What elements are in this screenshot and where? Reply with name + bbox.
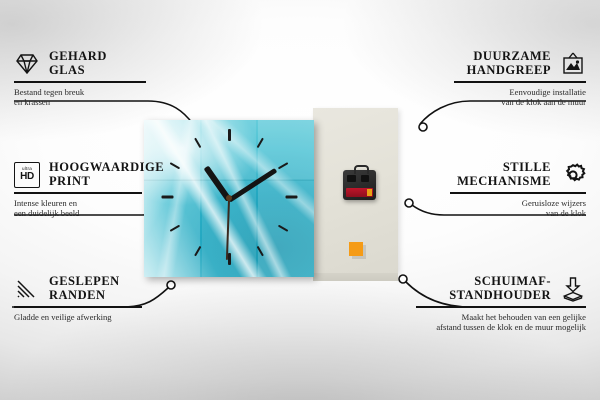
feature-divider [14, 81, 146, 83]
ultra-hd-icon: ultraHD [14, 162, 40, 188]
feature-divider [14, 306, 142, 308]
gear-icon [560, 162, 586, 188]
feature-schuimaf-standhouder: SCHUIMAF- STANDHOUDER Maakt het behouden… [416, 275, 586, 333]
infographic-canvas: GEHARD GLAS Bestand tegen breuk en krass… [0, 0, 600, 400]
foam-spacer-pad [349, 242, 363, 256]
clock-tick [286, 196, 298, 199]
feature-title-line2: MECHANISME [457, 175, 551, 189]
arrow-down-stack-icon [560, 276, 586, 302]
feature-desc-line2: een duidelijk beeld [14, 208, 142, 219]
feature-desc-line1: Maakt het behouden van een gelijke [416, 312, 586, 323]
feature-title-line2: RANDEN [49, 289, 120, 303]
feature-desc-line1: Geruisloze wijzers [450, 198, 586, 209]
feature-desc-line2: afstand tussen de klok en de muur mogeli… [416, 322, 586, 333]
diagonal-lines-icon [14, 276, 40, 302]
hanger-hook-icon [354, 165, 369, 174]
feature-title-line1: DUURZAME [467, 50, 551, 64]
clock-center-pivot [226, 195, 232, 201]
feature-title-line1: STILLE [457, 161, 551, 175]
clock-tick [162, 196, 174, 199]
feature-gehard-glas: GEHARD GLAS Bestand tegen breuk en krass… [14, 50, 146, 108]
clock-tick [228, 253, 231, 265]
feature-title-line1: GESLEPEN [49, 275, 120, 289]
product-photo [143, 108, 398, 281]
mechanism-detail [361, 175, 369, 182]
feature-divider [416, 306, 586, 308]
feature-desc-line1: Gladde en veilige afwerking [14, 312, 142, 323]
feature-desc-line1: Intense kleuren en [14, 198, 142, 209]
feature-hoogwaardige-print: ultraHD HOOGWAARDIGE PRINT Intense kleur… [14, 161, 142, 219]
feature-title-line2: PRINT [49, 175, 164, 189]
feature-divider [450, 192, 586, 194]
feature-geslepen-randen: GESLEPEN RANDEN Gladde en veilige afwerk… [14, 275, 142, 322]
mechanism-detail [347, 175, 356, 182]
hanging-picture-icon [560, 51, 586, 77]
feature-duurzame-handgreep: DUURZAME HANDGREEP Eenvoudige installati… [454, 50, 586, 108]
clock-mechanism [343, 170, 376, 200]
wall-base-shadow [313, 273, 398, 281]
feature-stille-mechanisme: STILLE MECHANISME Geruisloze wijzers van… [450, 161, 586, 219]
glass-wall-clock [144, 120, 314, 277]
feature-title-line1: GEHARD [49, 50, 107, 64]
feature-desc-line1: Bestand tegen breuk [14, 87, 146, 98]
feature-title-line2: STANDHOUDER [449, 289, 551, 303]
feature-desc-line2: van de klok aan de muur [454, 97, 586, 108]
feature-divider [14, 192, 142, 194]
feature-desc-line2: van de klok [450, 208, 586, 219]
battery [346, 188, 373, 197]
feature-desc-line2: en krassen [14, 97, 146, 108]
diamond-icon [14, 51, 40, 77]
clock-tick [228, 129, 231, 141]
feature-title-line2: HANDGREEP [467, 64, 551, 78]
feature-desc-line1: Eenvoudige installatie [454, 87, 586, 98]
feature-title-line1: HOOGWAARDIGE [49, 161, 164, 175]
feature-divider [454, 81, 586, 83]
feature-title-line2: GLAS [49, 64, 107, 78]
feature-title-line1: SCHUIMAF- [449, 275, 551, 289]
